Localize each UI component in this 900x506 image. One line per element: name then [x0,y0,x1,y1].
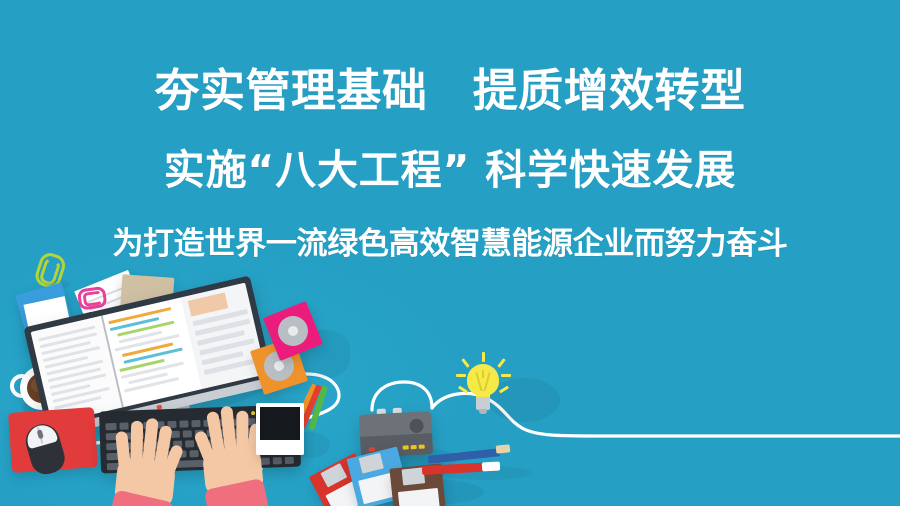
bulb-contact-tip [479,409,487,414]
paper-clip-pink [77,286,103,307]
router-led-amber-3 [419,445,425,449]
router-led-amber-2 [411,445,417,449]
router-led-red [369,447,375,451]
idea-light-bulb-icon [455,360,511,422]
router-led-amber-1 [403,445,409,449]
slogan-line-1: 夯实管理基础 提质增效转型 [0,68,900,113]
pencil-holder [256,403,304,455]
banner-canvas: 夯实管理基础 提质增效转型 实施“八大工程” 科学快速发展 为打造世界一流绿色高… [0,0,900,506]
slogan-line-3: 为打造世界一流绿色高效智慧能源企业而努力奋斗 [0,229,900,260]
left-hand [107,413,187,506]
pencil-blue-tip [496,444,511,453]
pencil-holder-front [260,407,300,440]
slogan-line-2: 实施“八大工程” 科学快速发展 [0,150,900,191]
pen-red-cap [482,462,500,472]
